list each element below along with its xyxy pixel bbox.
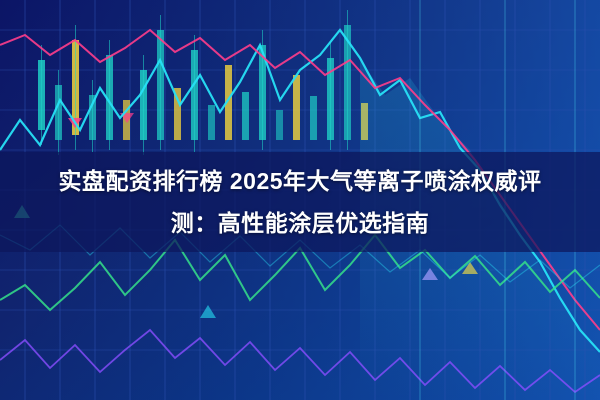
title-overlay: 实盘配资排行榜 2025年大气等离子喷涂权威评 测：高性能涂层优选指南 [0,152,600,252]
banner-image: 实盘配资排行榜 2025年大气等离子喷涂权威评 测：高性能涂层优选指南 [0,0,600,400]
title-line-1: 实盘配资排行榜 2025年大气等离子喷涂权威评 [58,160,541,202]
title-line-2: 测：高性能涂层优选指南 [171,202,430,244]
